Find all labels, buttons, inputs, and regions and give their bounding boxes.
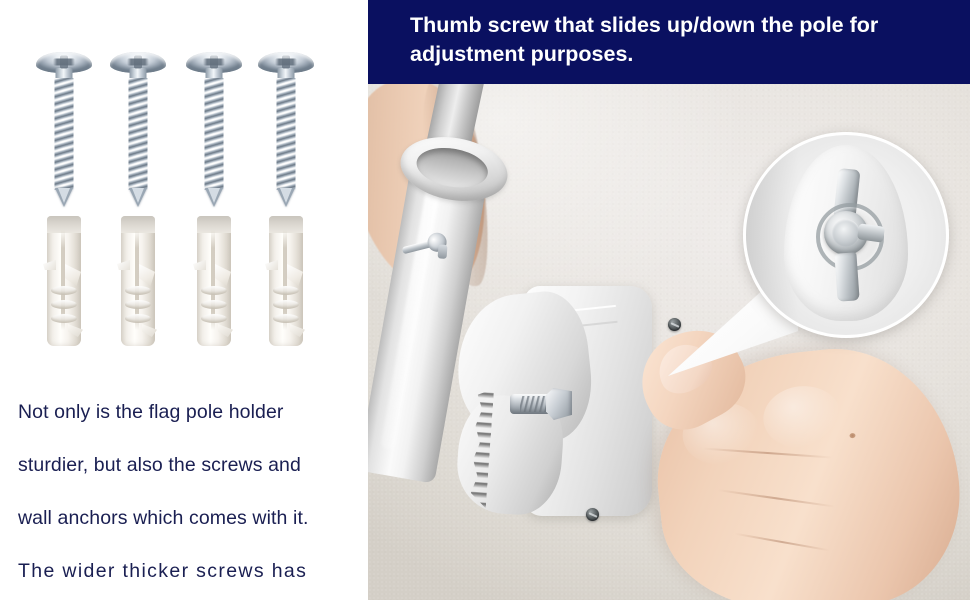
product-photo: Thumb screw that slides up/down the pole… <box>368 0 970 600</box>
screw-shank <box>129 78 148 190</box>
copy-line: wall anchors which comes with it. <box>18 505 354 532</box>
marketing-copy: Not only is the flag pole holder sturdie… <box>18 372 354 600</box>
screw-tip <box>277 188 295 207</box>
finger-crease <box>718 489 835 507</box>
anchor-rib <box>51 314 77 323</box>
wing-thumb-screw-icon <box>798 169 894 301</box>
tube-opening <box>413 143 491 193</box>
wall-anchor-4 <box>265 216 307 346</box>
screw-1 <box>36 52 92 207</box>
wall-anchor-1 <box>43 216 85 346</box>
pivot-bolt-thread <box>520 396 550 412</box>
anchor-rib <box>201 286 227 295</box>
finger-crease <box>735 533 830 552</box>
screw-shank <box>277 78 296 190</box>
screw-tip <box>205 188 223 207</box>
left-panel: Not only is the flag pole holder sturdie… <box>0 0 368 600</box>
screw-tip <box>129 188 147 207</box>
anchor-rib <box>51 300 77 309</box>
hardware-group <box>0 0 368 360</box>
anchor-rib <box>125 286 151 295</box>
anchor-rib <box>201 300 227 309</box>
banner-title: Thumb screw that slides up/down the pole… <box>410 11 955 68</box>
bracket-pivot-bolt <box>510 384 572 424</box>
anchor-rib <box>125 300 151 309</box>
anchor-rib <box>273 314 299 323</box>
anchor-rib <box>273 300 299 309</box>
copy-line: Not only is the flag pole holder <box>18 399 354 426</box>
copy-line: sturdier, but also the screws and <box>18 452 354 479</box>
copy-line: The wider thicker screws has <box>18 558 354 585</box>
screw-4 <box>258 52 314 207</box>
bracket-mounting-screw <box>668 318 681 331</box>
screw-tip <box>55 188 73 207</box>
product-infographic: Not only is the flag pole holder sturdie… <box>0 0 970 600</box>
pivot-bolt-head <box>546 388 572 420</box>
anchor-rib <box>273 286 299 295</box>
screw-3 <box>186 52 242 207</box>
wing-lower <box>834 252 859 301</box>
screw-shank <box>205 78 224 190</box>
bracket-mounting-screw <box>586 508 599 521</box>
header-banner: Thumb screw that slides up/down the pole… <box>368 0 970 84</box>
wall-anchor-2 <box>117 216 159 346</box>
anchor-rib <box>201 314 227 323</box>
screw-shank <box>55 78 74 190</box>
wing-side-arm <box>857 223 885 242</box>
screw-2 <box>110 52 166 207</box>
thumb-screw-tail <box>438 244 448 259</box>
wall-anchor-3 <box>193 216 235 346</box>
skin-mark <box>849 433 855 439</box>
anchor-rib <box>125 314 151 323</box>
anchor-rib <box>51 286 77 295</box>
knuckle-highlight <box>760 382 844 452</box>
magnified-thumb-screw-inset <box>743 132 949 338</box>
